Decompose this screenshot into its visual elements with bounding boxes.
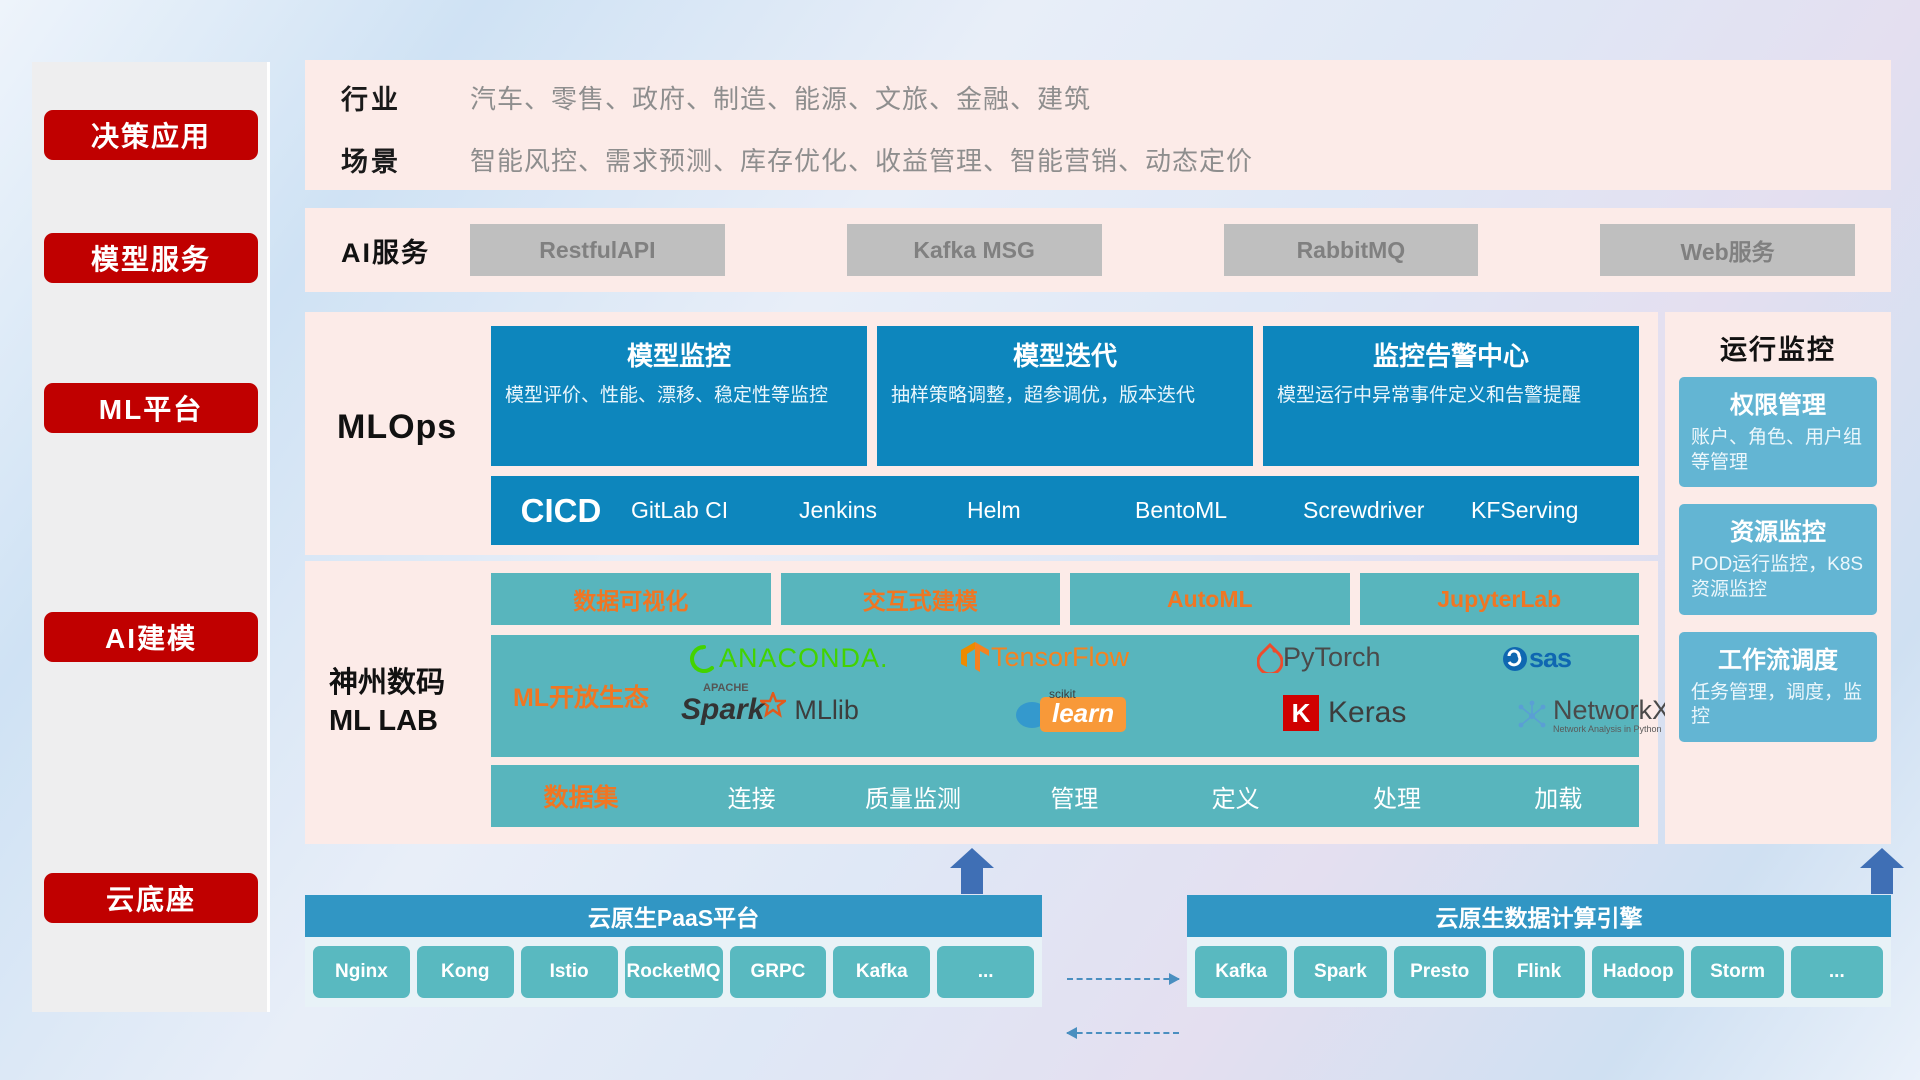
- up-arrow-engine-icon: [1860, 848, 1904, 894]
- ml-lab-label-line1: 神州数码: [329, 665, 445, 703]
- mlops-card-alert-center[interactable]: 监控告警中心 模型运行中异常事件定义和告警提醒: [1263, 326, 1639, 466]
- pytorch-logo-text: PyTorch: [1283, 642, 1381, 673]
- ai-service-chip-rabbitmq[interactable]: RabbitMQ: [1224, 224, 1479, 276]
- industry-value: 汽车、零售、政府、制造、能源、文旅、金融、建筑: [470, 79, 1091, 116]
- tensorflow-logo-text: TensorFlow: [991, 642, 1129, 673]
- monitor-card-workflow[interactable]: 工作流调度 任务管理，调度，监控: [1679, 632, 1877, 742]
- ai-service-chip-kafka-msg[interactable]: Kafka MSG: [847, 224, 1102, 276]
- ml-lab-label: 神州数码 ML LAB: [329, 665, 445, 740]
- industry-row: 行业 汽车、零售、政府、制造、能源、文旅、金融、建筑: [305, 66, 1891, 128]
- main-column: 行业 汽车、零售、政府、制造、能源、文旅、金融、建筑 场景 智能风控、需求预测、…: [305, 0, 1895, 1080]
- scikit-logo-text: learn: [1052, 698, 1114, 728]
- cicd-item-kfserving[interactable]: KFServing: [1471, 498, 1639, 522]
- cloud-chip-istio[interactable]: Istio: [521, 946, 618, 998]
- pytorch-logo: PyTorch: [1257, 642, 1381, 673]
- layer-rail: 决策应用 模型服务 ML平台 AI建模 云底座: [32, 62, 270, 1012]
- networkx-logo-text: NetworkX: [1553, 697, 1670, 724]
- spark-logo-text: Spark: [681, 693, 764, 726]
- cicd-item-gitlab-ci[interactable]: GitLab CI: [631, 498, 799, 522]
- ml-open-ecosystem-row: ML开放生态 ANACONDA. TensorFlow: [491, 635, 1639, 757]
- cloud-chip-kong[interactable]: Kong: [417, 946, 514, 998]
- dataset-item-list: 连接 质量监测 管理 定义 处理 加载: [671, 779, 1639, 814]
- cloud-chip-rocketmq[interactable]: RocketMQ: [625, 946, 723, 998]
- ml-lab-band: 神州数码 ML LAB 数据可视化 交互式建模 AutoML JupyterLa…: [305, 561, 1658, 844]
- scikit-logo-sub: scikit: [1049, 687, 1076, 701]
- engine-chip-kafka[interactable]: Kafka: [1195, 946, 1287, 998]
- rail-item-decision-app[interactable]: 决策应用: [44, 110, 258, 160]
- engine-chip-hadoop[interactable]: Hadoop: [1592, 946, 1684, 998]
- ecosystem-logo-grid: ANACONDA. TensorFlow PyTorch: [671, 635, 1639, 757]
- scenario-label: 场景: [305, 140, 470, 179]
- engine-chip-presto[interactable]: Presto: [1394, 946, 1486, 998]
- cloud-paas-group: 云原生PaaS平台 Nginx Kong Istio RocketMQ GRPC…: [305, 895, 1042, 1007]
- mlops-card-model-monitoring[interactable]: 模型监控 模型评价、性能、漂移、稳定性等监控: [491, 326, 867, 466]
- rail-item-label: 模型服务: [91, 238, 211, 278]
- cloud-base-row: 云原生PaaS平台 Nginx Kong Istio RocketMQ GRPC…: [305, 895, 1891, 1045]
- dataset-item-process[interactable]: 处理: [1316, 779, 1477, 814]
- dataset-item-connect[interactable]: 连接: [671, 779, 832, 814]
- keras-logo-text: Keras: [1328, 696, 1406, 730]
- keras-logo: K Keras: [1283, 695, 1406, 731]
- cloud-paas-chip-list: Nginx Kong Istio RocketMQ GRPC Kafka ...: [305, 937, 1042, 1007]
- card-title: 模型监控: [505, 336, 853, 373]
- decision-app-band: 行业 汽车、零售、政府、制造、能源、文旅、金融、建筑 场景 智能风控、需求预测、…: [305, 60, 1891, 190]
- card-desc: 任务管理，调度，监控: [1691, 681, 1865, 730]
- cicd-item-list: GitLab CI Jenkins Helm BentoML Screwdriv…: [631, 498, 1639, 522]
- card-title: 模型迭代: [891, 336, 1239, 373]
- networkx-graph-icon: [1516, 700, 1548, 732]
- rail-item-label: 云底座: [106, 878, 196, 918]
- rail-item-model-service[interactable]: 模型服务: [44, 233, 258, 283]
- tensorflow-icon: [961, 641, 991, 673]
- pytorch-icon: [1257, 643, 1283, 673]
- ml-lab-tool-list: 数据可视化 交互式建模 AutoML JupyterLab: [491, 573, 1639, 625]
- cloud-chip-nginx[interactable]: Nginx: [313, 946, 410, 998]
- dataset-row: 数据集 连接 质量监测 管理 定义 处理 加载: [491, 765, 1639, 827]
- cicd-item-helm[interactable]: Helm: [967, 498, 1135, 522]
- industry-label: 行业: [305, 78, 470, 117]
- anaconda-icon: [689, 644, 719, 674]
- tensorflow-logo: TensorFlow: [961, 641, 1129, 673]
- card-title: 工作流调度: [1691, 640, 1865, 675]
- networkx-logo-sub: Network Analysis in Python: [1553, 724, 1670, 734]
- monitor-card-resource[interactable]: 资源监控 POD运行监控，K8S资源监控: [1679, 504, 1877, 614]
- cloud-chip-kafka[interactable]: Kafka: [833, 946, 930, 998]
- spark-mllib-logo: APACHE Spark MLlib: [681, 693, 859, 727]
- cicd-item-jenkins[interactable]: Jenkins: [799, 498, 967, 522]
- keras-badge-icon: K: [1283, 695, 1319, 731]
- cloud-chip-more[interactable]: ...: [937, 946, 1034, 998]
- anaconda-logo-text: ANACONDA.: [719, 643, 889, 674]
- card-desc: POD运行监控，K8S资源监控: [1691, 553, 1865, 602]
- rail-item-ai-modeling[interactable]: AI建模: [44, 612, 258, 662]
- ml-lab-label-line2: ML LAB: [329, 703, 445, 741]
- monitor-card-permission[interactable]: 权限管理 账户、角色、用户组等管理: [1679, 377, 1877, 487]
- spark-logo-sub: APACHE: [703, 682, 749, 694]
- rail-item-label: 决策应用: [91, 115, 211, 155]
- scikit-learn-logo: scikit learn: [1016, 697, 1126, 732]
- ai-service-chip-web-service[interactable]: Web服务: [1600, 224, 1855, 276]
- engine-chip-spark[interactable]: Spark: [1294, 946, 1386, 998]
- ml-lab-tool-jupyterlab[interactable]: JupyterLab: [1360, 573, 1640, 625]
- ai-service-chip-list: RestfulAPI Kafka MSG RabbitMQ Web服务: [470, 224, 1891, 276]
- ml-lab-tool-interactive-modeling[interactable]: 交互式建模: [781, 573, 1061, 625]
- up-arrow-paas-icon: [950, 848, 994, 894]
- rail-item-label: AI建模: [105, 617, 197, 657]
- dataset-item-define[interactable]: 定义: [1155, 779, 1316, 814]
- dataset-item-manage[interactable]: 管理: [994, 779, 1155, 814]
- sas-icon: [1501, 645, 1529, 673]
- dataset-item-load[interactable]: 加载: [1478, 779, 1639, 814]
- dataset-item-quality-monitor[interactable]: 质量监测: [832, 779, 993, 814]
- cicd-item-screwdriver[interactable]: Screwdriver: [1303, 498, 1471, 522]
- ml-open-ecosystem-label: ML开放生态: [491, 678, 671, 714]
- mlops-band: MLOps 模型监控 模型评价、性能、漂移、稳定性等监控 模型迭代 抽样策略调整…: [305, 312, 1658, 555]
- cloud-chip-grpc[interactable]: GRPC: [730, 946, 827, 998]
- ai-service-label: AI服务: [305, 231, 470, 270]
- ai-service-band: AI服务 RestfulAPI Kafka MSG RabbitMQ Web服务: [305, 208, 1891, 292]
- engine-chip-storm[interactable]: Storm: [1691, 946, 1783, 998]
- cicd-title: CICD: [491, 492, 631, 530]
- engine-chip-flink[interactable]: Flink: [1493, 946, 1585, 998]
- ai-service-chip-restfulapi[interactable]: RestfulAPI: [470, 224, 725, 276]
- scenario-value: 智能风控、需求预测、库存优化、收益管理、智能营销、动态定价: [470, 141, 1253, 178]
- cicd-bar: CICD GitLab CI Jenkins Helm BentoML Scre…: [491, 476, 1639, 545]
- mllib-logo-text: MLlib: [794, 695, 859, 726]
- scenario-row: 场景 智能风控、需求预测、库存优化、收益管理、智能营销、动态定价: [305, 128, 1891, 190]
- rail-item-label: ML平台: [99, 388, 203, 428]
- rail-item-cloud-base[interactable]: 云底座: [44, 873, 258, 923]
- cloud-engine-group: 云原生数据计算引擎 Kafka Spark Presto Flink Hadoo…: [1187, 895, 1891, 1007]
- rail-item-ml-platform[interactable]: ML平台: [44, 383, 258, 433]
- dataset-title: 数据集: [491, 778, 671, 814]
- anaconda-logo: ANACONDA.: [689, 643, 889, 674]
- cicd-item-bentoml[interactable]: BentoML: [1135, 498, 1303, 522]
- sas-logo-text: sas: [1529, 643, 1571, 674]
- mlops-card-model-iteration[interactable]: 模型迭代 抽样策略调整，超参调优，版本迭代: [877, 326, 1253, 466]
- sas-logo: sas: [1501, 643, 1571, 674]
- run-monitor-title: 运行监控: [1665, 312, 1891, 377]
- cloud-engine-title: 云原生数据计算引擎: [1187, 895, 1891, 937]
- cloud-paas-title: 云原生PaaS平台: [305, 895, 1042, 937]
- engine-chip-more[interactable]: ...: [1791, 946, 1883, 998]
- card-desc: 模型评价、性能、漂移、稳定性等监控: [505, 383, 853, 409]
- card-title: 资源监控: [1691, 512, 1865, 547]
- ml-lab-tool-automl[interactable]: AutoML: [1070, 573, 1350, 625]
- card-desc: 账户、角色、用户组等管理: [1691, 426, 1865, 475]
- mlops-card-list: 模型监控 模型评价、性能、漂移、稳定性等监控 模型迭代 抽样策略调整，超参调优，…: [491, 326, 1639, 466]
- card-title: 监控告警中心: [1277, 336, 1625, 373]
- card-title: 权限管理: [1691, 385, 1865, 420]
- ml-lab-tool-data-visualization[interactable]: 数据可视化: [491, 573, 771, 625]
- networkx-logo: NetworkX Network Analysis in Python: [1516, 697, 1670, 734]
- cloud-engine-chip-list: Kafka Spark Presto Flink Hadoop Storm ..…: [1187, 937, 1891, 1007]
- card-desc: 抽样策略调整，超参调优，版本迭代: [891, 383, 1239, 409]
- run-monitor-column: 运行监控 权限管理 账户、角色、用户组等管理 资源监控 POD运行监控，K8S资…: [1665, 312, 1891, 844]
- mlops-label: MLOps: [337, 408, 457, 447]
- card-desc: 模型运行中异常事件定义和告警提醒: [1277, 383, 1625, 409]
